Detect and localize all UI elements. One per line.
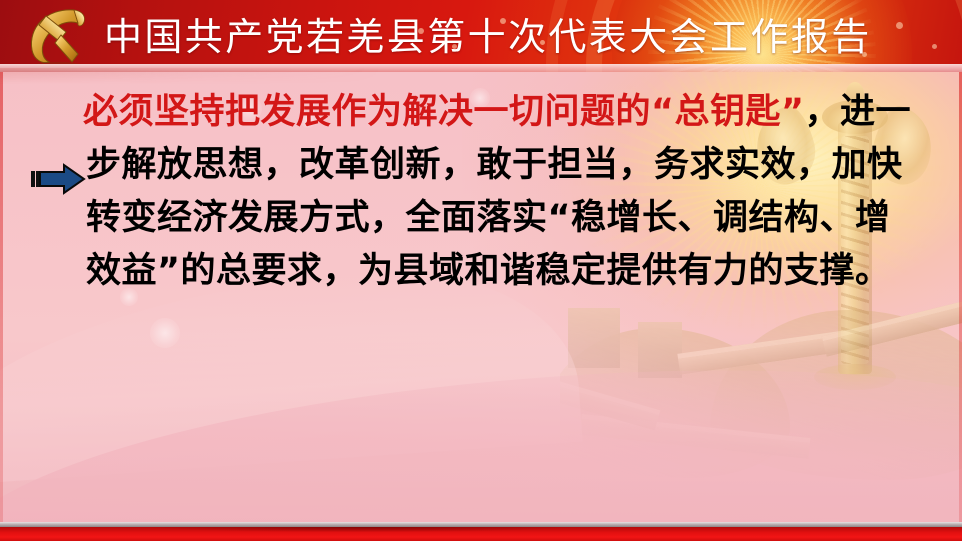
header-dot: [932, 44, 937, 49]
bullet-paragraph-row: 必须坚持把发展作为解决一切问题的“总钥匙”，进一步解放思想，改革创新，敢于担当，…: [0, 86, 962, 298]
highlight-text: 匙”: [746, 92, 805, 132]
ccp-hammer-sickle-emblem-icon: [16, 2, 102, 72]
presentation-slide: 中国共产党若羌县第十次代表大会工作报告 必须坚持把发展作为解决一切问题的“总钥匙…: [0, 0, 962, 541]
right-arrow-icon: [30, 162, 86, 196]
bullet-paragraph-text: 必须坚持把发展作为解决一切问题的“总钥匙”，进一步解放思想，改革创新，敢于担当，…: [86, 86, 916, 298]
great-wall-tower: [638, 322, 682, 378]
great-wall-tower: [568, 308, 620, 368]
body-text: 和谐稳定提供有力的支撑。: [465, 251, 891, 291]
header-reflection: [0, 68, 962, 84]
slide-header-banner: 中国共产党若羌县第十次代表大会工作报告: [0, 0, 962, 72]
slide-content: 必须坚持把发展作为解决一切问题的“总钥匙”，进一步解放思想，改革创新，敢于担当，…: [0, 86, 962, 298]
page-title: 中国共产党若羌县第十次代表大会工作报告: [104, 2, 872, 64]
highlight-text: 必须坚持把发展作为解决一切问题的“总钥: [83, 92, 746, 132]
footer-bar: [0, 527, 962, 541]
header-dot: [896, 22, 903, 29]
